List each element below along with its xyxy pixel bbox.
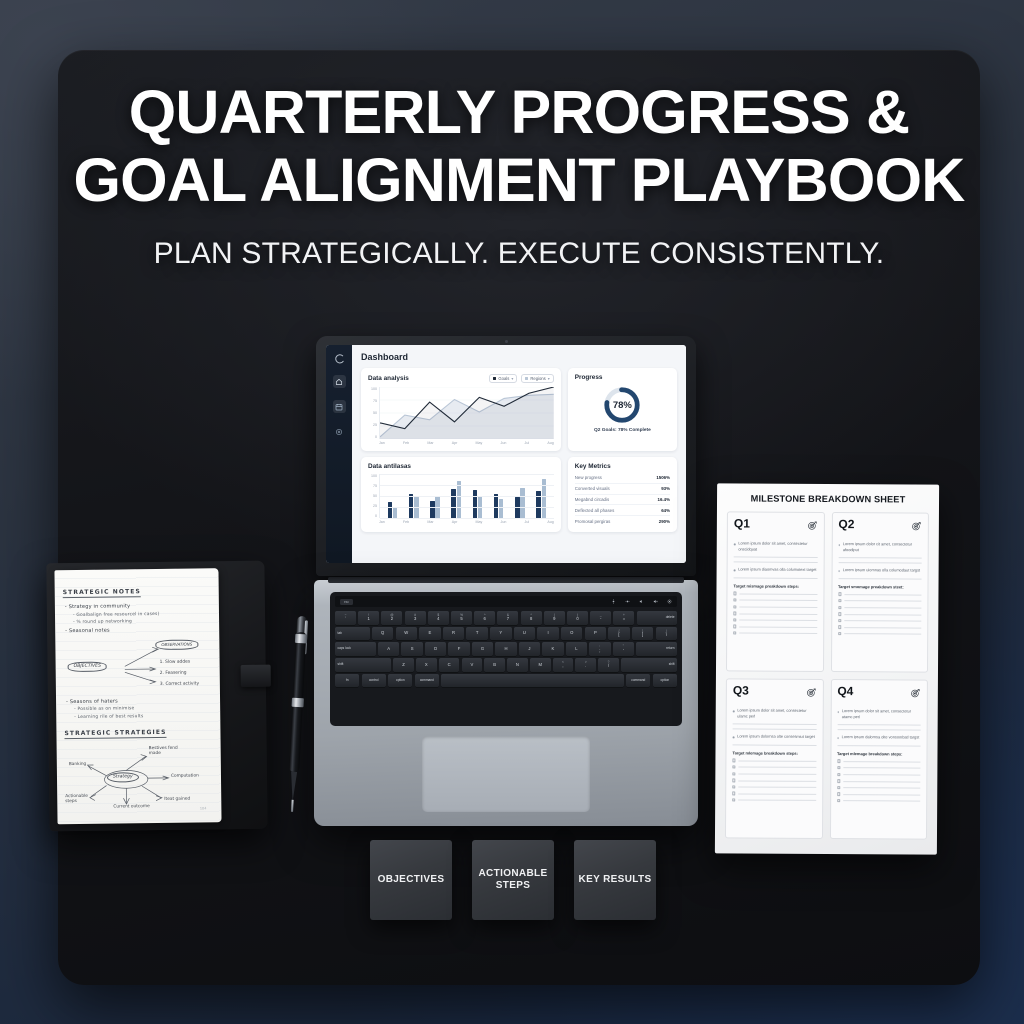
y-tick-label: 50 [368, 411, 377, 415]
key-n[interactable]: N [507, 658, 528, 672]
key-option-right[interactable]: option [653, 674, 677, 688]
checklist-item[interactable] [732, 792, 816, 796]
key-label: tab [338, 632, 342, 635]
metric-row: Converted visuals93% [575, 484, 670, 495]
writing-rule [733, 724, 817, 725]
checkbox[interactable] [733, 605, 736, 608]
key-label: delete [666, 616, 675, 619]
checkbox[interactable] [837, 779, 840, 782]
key-.[interactable]: >. [575, 658, 596, 672]
checklist-item[interactable] [733, 598, 817, 602]
metric-row: Deflected all phases64% [575, 505, 670, 516]
checkbox[interactable] [838, 619, 841, 622]
writing-rule [739, 800, 816, 801]
x-tick-label: Jun [501, 441, 507, 445]
keyboard-light-icon[interactable] [625, 599, 630, 604]
checkbox[interactable] [733, 631, 736, 634]
bar-goals [473, 490, 477, 518]
y-tick-label: 25 [368, 504, 377, 508]
key-command[interactable]: command [415, 674, 439, 688]
writing-rule [844, 627, 921, 628]
bullet-text: Lorem ipsum dolornsa olte consesmiut tar… [737, 734, 815, 740]
x-tick-label: Mar [427, 520, 433, 524]
bullet-text: Lorem ipsum uiomnas olla columodaut targ… [843, 567, 920, 573]
key-6[interactable]: ^6 [474, 611, 495, 625]
quarter-card-header: Q4 [837, 685, 921, 704]
bullet-dot [733, 737, 735, 739]
key-caps-lock[interactable]: caps lock [335, 642, 376, 656]
writing-rule [740, 600, 817, 601]
note-line: - Seasonal notes [65, 626, 211, 634]
quarter-label: Q3 [733, 684, 749, 696]
keyboard-row: tabQWERTYUIOP{[}]|\ [335, 627, 677, 641]
checkbox[interactable] [838, 625, 841, 628]
note-line: - Seasons of haters [66, 697, 212, 705]
checklist-item[interactable] [733, 631, 817, 635]
x-tick-label: May [476, 441, 483, 445]
notes-mindmap-strategy: Strategy Bestives fend made Computation … [65, 744, 214, 816]
checklist-item[interactable] [733, 612, 817, 616]
checklist-item[interactable] [733, 592, 817, 596]
key-label: - [600, 617, 601, 621]
bullet-text: Lorem ipsum diaomvas olla columotext tar… [738, 567, 816, 573]
quarter-card-q1: Q1Lorem ipsum dolor sit amet, consectetu… [726, 511, 824, 672]
key-[[interactable]: {[ [608, 627, 629, 641]
key-label: 4 [437, 617, 439, 621]
key-v[interactable]: V [462, 658, 483, 672]
key-label: 6 [484, 617, 486, 621]
key-return[interactable]: return [636, 642, 677, 656]
sidebar-item-settings[interactable] [333, 425, 346, 438]
checklist-item[interactable] [837, 779, 921, 783]
progress-card-title: Progress [575, 374, 670, 381]
key-label: / [608, 664, 609, 668]
writing-rule [740, 607, 817, 608]
key-z[interactable]: Z [393, 658, 414, 672]
checkbox[interactable] [733, 618, 736, 621]
key-shift-left[interactable]: shift [335, 658, 391, 672]
key-3[interactable]: #3 [405, 611, 426, 625]
checkbox[interactable] [837, 786, 840, 789]
x-tick-label: Mar [427, 441, 433, 445]
checklist-item[interactable] [837, 799, 921, 803]
checkbox[interactable] [733, 612, 736, 615]
key-m[interactable]: M [530, 658, 551, 672]
gridline [380, 474, 554, 475]
key-t[interactable]: T [466, 627, 487, 641]
key-g[interactable]: G [472, 642, 493, 656]
key-l[interactable]: L [566, 642, 587, 656]
x-tick-label: Jun [501, 520, 507, 524]
checkbox[interactable] [838, 593, 841, 596]
key-label: T [476, 631, 479, 635]
key-label: E [428, 631, 431, 635]
writing-rule [740, 633, 817, 634]
key-9[interactable]: (9 [544, 611, 565, 625]
laptop: Dashboard Data analysis Goals ▾ [316, 336, 696, 826]
checklist-item[interactable] [732, 798, 816, 802]
trackpad[interactable] [422, 736, 590, 812]
quarter-card-header: Q2 [838, 518, 922, 537]
notebook-handwriting: STRATEGIC NOTES - Strategy in community-… [63, 577, 214, 815]
bar-goals [451, 489, 455, 518]
headline-block: QUARTERLY PROGRESS & GOAL ALIGNMENT PLAY… [58, 78, 980, 271]
y-tick-label: 0 [368, 435, 377, 439]
filter-goals-label: Goals [498, 376, 509, 381]
checklist-item[interactable] [837, 760, 921, 764]
volume-icon[interactable] [639, 599, 644, 604]
key-label: . [585, 664, 586, 668]
filter-regions[interactable]: Regions ▾ [521, 374, 553, 383]
checkbox[interactable] [838, 612, 841, 615]
checkbox[interactable] [732, 759, 735, 762]
line-chart-x-axis: JanFebMarAprMayJunJulAug [379, 439, 554, 445]
headline-line-1: QUARTERLY PROGRESS & [58, 78, 980, 146]
key-label: X [425, 663, 428, 667]
key-d[interactable]: D [425, 642, 446, 656]
checkbox[interactable] [838, 606, 841, 609]
bar-regions [499, 499, 503, 518]
writing-rule [844, 594, 921, 595]
key-label: U [523, 631, 526, 635]
key--[interactable]: _- [590, 611, 611, 625]
key-a[interactable]: A [378, 642, 399, 656]
note-line: - % round up networking [73, 619, 211, 626]
checklist-item[interactable] [838, 612, 922, 616]
bar-chart-card: Data antilasas 1007550250 JanFebMarAprMa… [361, 457, 561, 532]
key-control[interactable]: control [362, 674, 386, 688]
quarter-label: Q2 [838, 518, 854, 530]
steps-label: Target smomage preakdown steet: [838, 585, 922, 591]
metric-value: 16.4% [658, 497, 670, 502]
key-i[interactable]: I [537, 627, 558, 641]
quarter-card-q3: Q3Lorem ipsum dolor sit amet, consectetu… [725, 678, 823, 839]
mindmap-strategy-node-1: Bestives fend made [149, 745, 185, 757]
key-w[interactable]: W [396, 627, 417, 641]
key-label: \ [666, 633, 667, 637]
checklist-item[interactable] [838, 599, 922, 603]
checkbox[interactable] [837, 799, 840, 802]
key-1[interactable]: !1 [358, 611, 379, 625]
checkbox[interactable] [732, 785, 735, 788]
page-title: Dashboard [361, 352, 677, 362]
progress-card: Progress 78% Q2 Goals: 7 [568, 368, 677, 451]
target-icon [911, 519, 922, 537]
writing-rule [734, 557, 818, 558]
key-2[interactable]: @2 [381, 611, 402, 625]
key-8[interactable]: *8 [521, 611, 542, 625]
brightness-icon[interactable] [611, 599, 616, 604]
quarter-bullet: Lorem ipsum dalornsa olte vonsombatl tar… [837, 734, 921, 740]
quarter-bullet: Lorem ipsum dolor sit amet, consectetur … [734, 540, 818, 552]
key-metrics-list: New progress1506%Converted visuals93%Meg… [575, 473, 670, 526]
writing-rule [837, 729, 921, 730]
mute-icon[interactable] [653, 599, 658, 604]
writing-rule [740, 593, 817, 594]
key-label: Q [381, 631, 384, 635]
checklist-item[interactable] [733, 625, 817, 629]
bullet-dot [838, 544, 840, 546]
checklist-item[interactable] [838, 625, 922, 629]
checklist-item[interactable] [838, 632, 922, 636]
checklist-item[interactable] [732, 759, 816, 763]
checkbox[interactable] [838, 599, 841, 602]
pen-nib [291, 800, 293, 812]
key-][interactable]: }] [632, 627, 653, 641]
checklist-item[interactable] [732, 785, 816, 789]
target-icon [806, 518, 817, 536]
dashboard-body: Dashboard Data analysis Goals ▾ [352, 345, 686, 563]
quarter-label: Q4 [837, 685, 853, 697]
writing-rule [844, 620, 921, 621]
key-label: R [452, 631, 455, 635]
siri-icon[interactable] [667, 599, 672, 604]
checkbox[interactable] [733, 598, 736, 601]
writing-rule [740, 626, 817, 627]
key-7[interactable]: &7 [497, 611, 518, 625]
gridline [380, 518, 554, 519]
key-label: B [493, 663, 496, 667]
key-delete[interactable]: delete [637, 611, 677, 625]
checklist-item[interactable] [837, 792, 921, 796]
key-label: V [470, 663, 473, 667]
writing-rule [844, 633, 921, 634]
notes-mindmap-objectives: OBJECTIVES OBSERVATIONS 1. Slow addes 2.… [63, 635, 212, 695]
checkbox[interactable] [733, 592, 736, 595]
target-icon [805, 685, 816, 703]
writing-rule [733, 744, 817, 745]
writing-rule [838, 578, 922, 579]
key-label: [ [618, 633, 619, 637]
chart-filters: Goals ▾ Regions ▾ [489, 374, 553, 383]
key-label: C [448, 663, 451, 667]
key-label: ] [642, 633, 643, 637]
writing-rule [739, 793, 816, 794]
bar-chart-plot [379, 474, 554, 518]
concept-chip-objectives[interactable]: OBJECTIVES [370, 840, 452, 920]
quarter-bullet: Lorem ipsum dolor sit amet, consectetur … [733, 707, 817, 719]
key-\[interactable]: |\ [656, 627, 677, 641]
bullet-text: Lorem ipsum dolor sit amet, consectetur … [842, 708, 921, 720]
checklist-item[interactable] [837, 786, 921, 790]
key-e[interactable]: E [419, 627, 440, 641]
filter-goals[interactable]: Goals ▾ [489, 374, 517, 383]
checkbox[interactable] [732, 765, 735, 768]
pen-ring [295, 634, 307, 644]
notes-section-title-2: STRATEGIC STRATEGIES [64, 729, 166, 739]
y-tick-label: 75 [368, 484, 377, 488]
notebook-elastic-strap [241, 665, 271, 687]
bullet-dot [837, 737, 839, 739]
x-tick-label: Apr [452, 441, 458, 445]
checklist-item[interactable] [732, 772, 816, 776]
bullet-dot [838, 570, 840, 572]
quarter-card-grid: Q1Lorem ipsum dolor sit amet, consectetu… [725, 511, 929, 839]
checkbox[interactable] [838, 632, 841, 635]
key-;[interactable]: :; [589, 642, 610, 656]
checkbox[interactable] [733, 625, 736, 628]
checkbox[interactable] [732, 772, 735, 775]
key-label: Y [499, 631, 502, 635]
key-`[interactable]: ~` [335, 611, 356, 625]
quarter-card-q4: Q4Lorem ipsum dolor sit amet, consectetu… [829, 679, 927, 840]
app-logo-icon [334, 352, 345, 363]
concept-chip-key-results[interactable]: KEY RESULTS [574, 840, 656, 920]
line-chart-svg [380, 387, 554, 439]
key-p[interactable]: P [585, 627, 606, 641]
checklist-item[interactable] [838, 593, 922, 597]
key-/[interactable]: ?/ [598, 658, 619, 672]
key-shift-right[interactable]: shift [621, 658, 677, 672]
checklist-item[interactable] [838, 619, 922, 623]
note-line: - Possible as on minimise [74, 706, 212, 713]
laptop-base: esc ~`!1@2#3$4%5^6&7*8(9)0_-+=deletetabQ… [314, 580, 698, 826]
key-label: return [666, 647, 674, 650]
x-tick-label: Jul [525, 441, 530, 445]
writing-rule [838, 562, 922, 563]
checkbox[interactable] [732, 779, 735, 782]
key-label: W [404, 631, 408, 635]
key-label: J [528, 647, 530, 651]
key-label: shift [338, 663, 344, 666]
key-k[interactable]: K [542, 642, 563, 656]
checkbox[interactable] [837, 766, 840, 769]
checkbox[interactable] [837, 773, 840, 776]
key-q[interactable]: Q [372, 627, 393, 641]
pen-cone [290, 772, 298, 802]
checklist-item[interactable] [837, 773, 921, 777]
checkbox[interactable] [837, 792, 840, 795]
target-icon [910, 686, 921, 704]
key-r[interactable]: R [443, 627, 464, 641]
bullet-text: Lorem ipsum dolor sit amet, consectetur … [737, 707, 816, 719]
checkbox[interactable] [732, 792, 735, 795]
key-y[interactable]: Y [490, 627, 511, 641]
key-,[interactable]: <, [553, 658, 574, 672]
key-label: I [547, 631, 548, 635]
y-tick-label: 50 [368, 494, 377, 498]
metric-label: Converted visuals [575, 486, 610, 491]
key-'[interactable]: "' [613, 642, 634, 656]
key-label: 9 [553, 617, 555, 621]
key-label: option [660, 679, 669, 682]
gridline [380, 496, 554, 497]
key-space[interactable] [441, 674, 624, 688]
writing-rule [843, 761, 920, 762]
key-label: P [594, 631, 597, 635]
key-label: L [575, 647, 577, 651]
sidebar-item-calendar[interactable] [333, 400, 346, 413]
metric-value: 93% [661, 486, 670, 491]
writing-rule [844, 601, 921, 602]
mindmap-strategy-node-2: Computation [171, 773, 199, 778]
concept-chip-row: OBJECTIVESACTIONABLE STEPSKEY RESULTS [370, 840, 656, 920]
key-command-right[interactable]: command [626, 674, 650, 688]
touch-bar-icons [611, 599, 672, 604]
key-s[interactable]: S [401, 642, 422, 656]
key-f[interactable]: F [448, 642, 469, 656]
key-option[interactable]: option [388, 674, 412, 688]
key-escape[interactable]: esc [340, 599, 353, 605]
key-label: H [504, 647, 507, 651]
key-label: option [396, 679, 405, 682]
y-tick-label: 100 [368, 387, 377, 391]
writing-rule [843, 774, 920, 775]
key-4[interactable]: $4 [428, 611, 449, 625]
key-u[interactable]: U [514, 627, 535, 641]
x-tick-label: Jan [379, 520, 385, 524]
key-label: N [516, 663, 519, 667]
key-0[interactable]: )0 [567, 611, 588, 625]
key-label: ; [599, 649, 600, 653]
bullet-dot [734, 543, 736, 545]
writing-rule [843, 800, 920, 801]
concept-chip-actionable-steps[interactable]: ACTIONABLE STEPS [472, 840, 554, 920]
key-=[interactable]: += [613, 611, 634, 625]
checklist-item[interactable] [838, 606, 922, 610]
key-label: 3 [414, 617, 416, 621]
touch-bar[interactable]: esc [335, 596, 677, 607]
key-label: = [623, 617, 625, 621]
gridline [380, 507, 554, 508]
writing-rule [739, 767, 816, 768]
key-x[interactable]: X [416, 658, 437, 672]
bullet-dot [734, 570, 736, 572]
sidebar-item-home[interactable] [333, 375, 346, 388]
bar-regions [457, 481, 461, 518]
checklist-item[interactable] [732, 765, 816, 769]
writing-rule [843, 787, 920, 788]
note-line: - Learning rile of best results [74, 713, 212, 720]
checklist-item[interactable] [733, 618, 817, 622]
key-j[interactable]: J [519, 642, 540, 656]
checkbox[interactable] [837, 760, 840, 763]
bar-chart-y-axis: 1007550250 [368, 474, 377, 518]
notebook: STRATEGIC NOTES - Strategy in community-… [46, 561, 267, 832]
checklist-item[interactable] [837, 766, 921, 770]
bar-chart-title: Data antilasas [368, 463, 554, 470]
x-tick-label: Jan [379, 441, 385, 445]
metric-row: New progress1506% [575, 473, 670, 484]
key-fn[interactable]: fn [335, 674, 359, 688]
checklist-item[interactable] [733, 605, 817, 609]
checkbox[interactable] [732, 798, 735, 801]
bullet-dot [733, 710, 735, 712]
writing-rule [733, 728, 817, 729]
quarter-bullet: Lorem ipsum dolor sit amet, consectetur … [837, 708, 921, 720]
keyboard-row: caps lockASDFGHJKL:;"'return [335, 642, 677, 656]
subheadline: PLAN STRATEGICALLY. EXECUTE CONSISTENTLY… [58, 237, 980, 271]
key-h[interactable]: H [495, 642, 516, 656]
key-b[interactable]: B [484, 658, 505, 672]
key-label: K [552, 647, 555, 651]
key-tab[interactable]: tab [335, 627, 370, 641]
key-label: , [562, 664, 563, 668]
mindmap-item-2: 2. Feasering [160, 671, 187, 676]
mindmap-strategy-node-3: Iteat gained [164, 796, 190, 801]
key-c[interactable]: C [439, 658, 460, 672]
progress-donut: 78% [602, 385, 642, 425]
key-5[interactable]: %5 [451, 611, 472, 625]
writing-rule [739, 774, 816, 775]
key-o[interactable]: O [561, 627, 582, 641]
quarter-bullet: Lorem ipsum uiomnas olla columodaut targ… [838, 567, 922, 573]
chevron-down-icon: ▾ [511, 376, 513, 381]
bullet-text: Lorem ipsum dolor cit amet, consectetur … [843, 541, 922, 553]
writing-rule [838, 557, 922, 558]
metric-value: 290% [659, 519, 670, 524]
checklist-item[interactable] [732, 779, 816, 783]
